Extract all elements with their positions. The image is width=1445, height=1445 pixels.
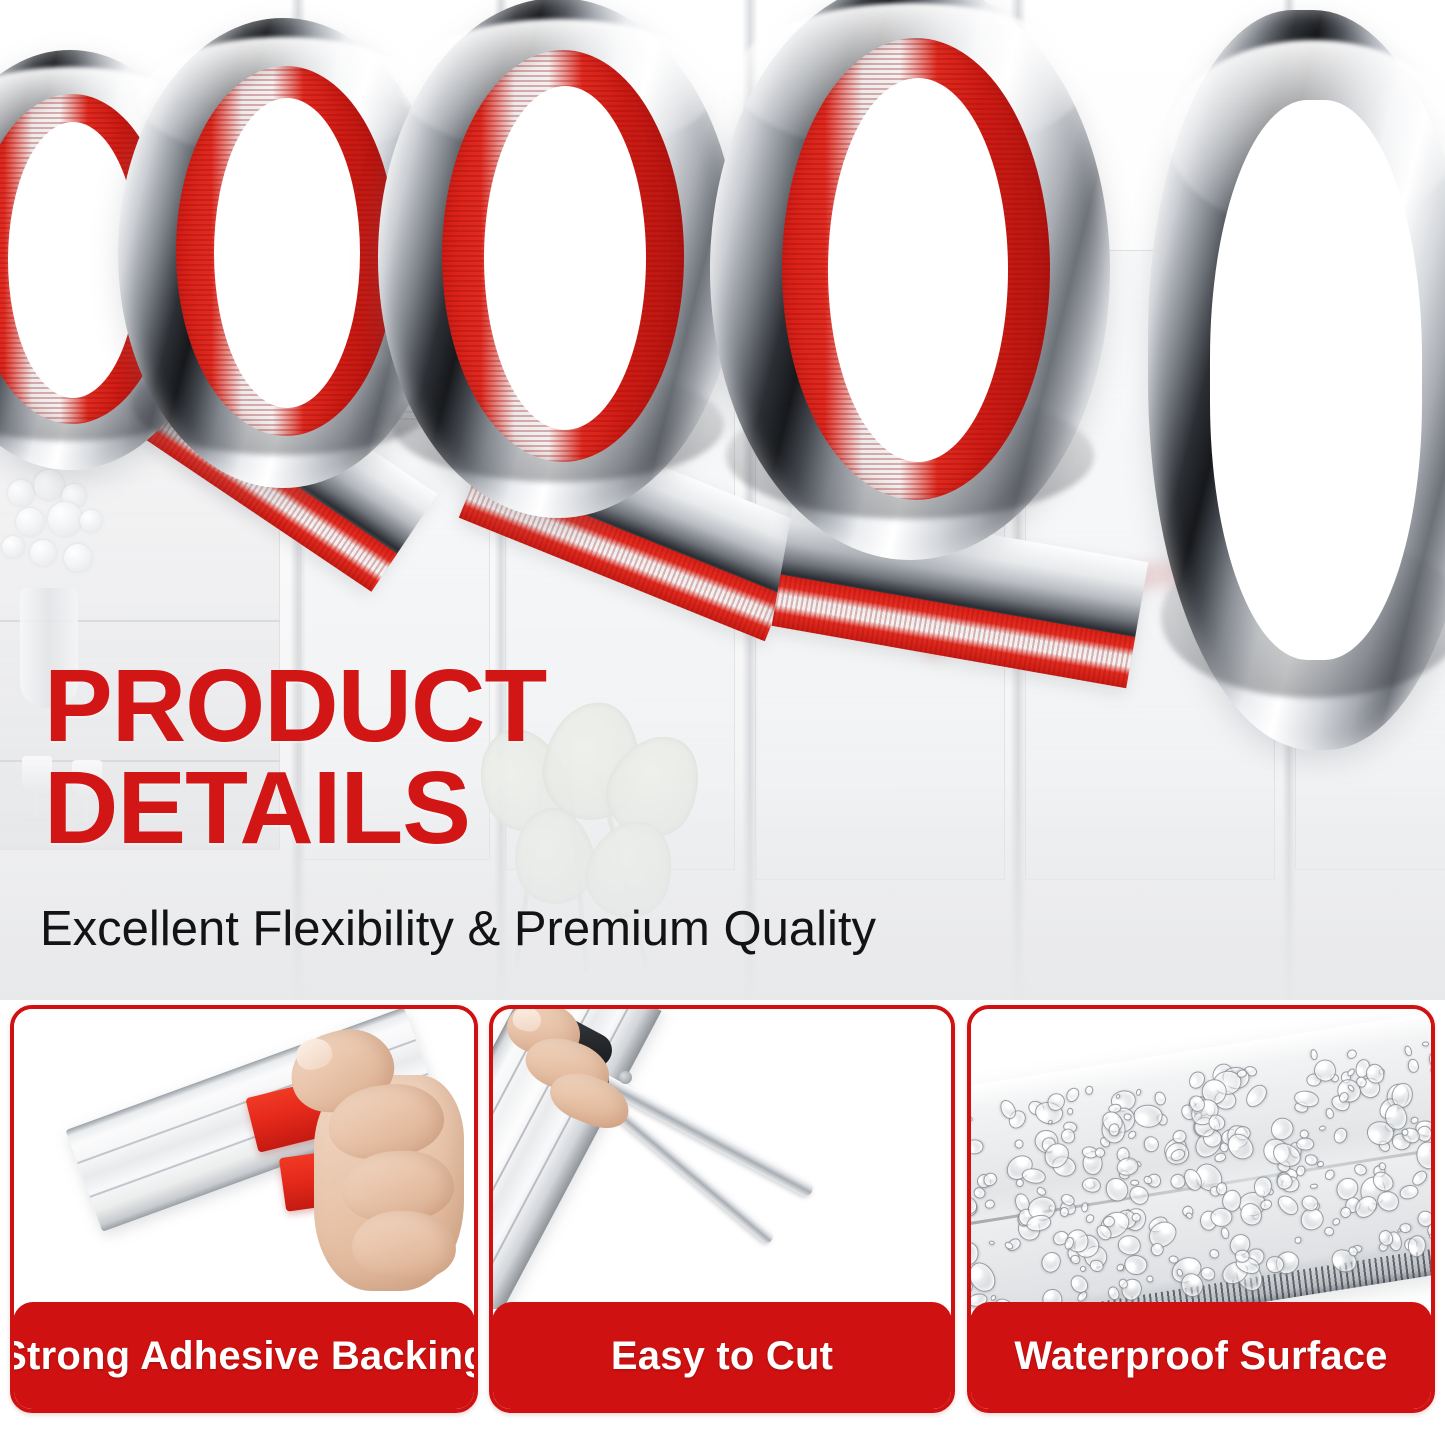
water-droplet — [1141, 1134, 1161, 1155]
hand — [256, 1023, 456, 1291]
water-droplet — [1084, 1084, 1094, 1095]
water-droplet — [1067, 1107, 1074, 1114]
water-droplet — [1346, 1048, 1359, 1060]
water-droplet — [1136, 1088, 1142, 1096]
feature-panel-easy-to-cut[interactable]: Easy to Cut — [489, 1005, 955, 1413]
water-droplet — [1126, 1182, 1152, 1208]
page-title-line-2: DETAILS — [44, 757, 1144, 859]
infographic-canvas: PRODUCT DETAILS Excellent Flexibility & … — [0, 0, 1445, 1445]
water-droplet — [1324, 1226, 1335, 1236]
feature-image-waterproof-surface — [971, 1009, 1431, 1309]
page-subtitle: Excellent Flexibility & Premium Quality — [40, 900, 876, 958]
water-droplet — [1133, 1104, 1164, 1129]
water-droplet — [1185, 1212, 1193, 1220]
water-droplet — [1060, 1207, 1069, 1217]
tape-loop — [1148, 10, 1445, 750]
feature-panel-row: Strong Adhesive Backing — [0, 1005, 1445, 1415]
water-droplet — [1215, 1182, 1227, 1196]
chrome-strip-wet — [971, 1009, 1431, 1309]
water-droplet — [1331, 1125, 1349, 1145]
water-droplet — [988, 1240, 994, 1244]
tape-loop — [710, 0, 1110, 560]
water-droplet — [1146, 1275, 1154, 1283]
water-droplet — [1213, 1152, 1227, 1165]
water-droplet — [1274, 1192, 1302, 1219]
water-droplet — [1208, 1248, 1220, 1260]
water-droplet — [1296, 1137, 1314, 1151]
water-droplet — [1063, 1086, 1081, 1105]
water-droplet — [1310, 1049, 1319, 1061]
water-droplet — [971, 1115, 974, 1123]
feature-caption-easy-to-cut: Easy to Cut — [492, 1302, 952, 1410]
water-droplet — [1117, 1234, 1142, 1256]
water-droplet — [1310, 1183, 1318, 1189]
water-droplet — [1079, 1265, 1087, 1272]
feature-panel-strong-adhesive-backing[interactable]: Strong Adhesive Backing — [10, 1005, 478, 1413]
water-droplet — [1021, 1167, 1046, 1185]
water-droplet — [1081, 1177, 1101, 1194]
feature-image-easy-to-cut — [493, 1009, 951, 1309]
water-droplet — [1037, 1249, 1064, 1277]
feature-caption-label: Strong Adhesive Backing — [10, 1334, 478, 1379]
page-title-line-1: PRODUCT — [44, 655, 1144, 757]
water-droplet — [1295, 1236, 1302, 1244]
water-droplet — [1407, 1058, 1420, 1074]
water-droplet — [1084, 1213, 1096, 1225]
water-droplet — [1220, 1226, 1231, 1240]
water-droplet — [1331, 1216, 1342, 1226]
feature-caption-label: Easy to Cut — [611, 1334, 833, 1379]
water-droplet — [971, 1139, 984, 1155]
water-droplet — [1422, 1041, 1429, 1046]
hand — [501, 1009, 651, 1123]
water-droplet — [1352, 1162, 1369, 1178]
water-droplet — [1403, 1045, 1413, 1057]
feature-caption-waterproof-surface: Waterproof Surface — [970, 1302, 1432, 1410]
water-droplet — [1127, 1130, 1138, 1141]
water-droplet — [1081, 1201, 1088, 1212]
page-title: PRODUCT DETAILS — [44, 655, 1144, 859]
water-droplet — [971, 1258, 1000, 1297]
water-droplet — [1122, 1254, 1148, 1277]
tape-loop-opening — [828, 78, 1008, 462]
tape-loop-opening — [214, 98, 360, 408]
water-droplet — [1070, 1254, 1081, 1264]
water-droplet — [1108, 1122, 1120, 1136]
tape-loop-opening — [484, 86, 646, 430]
tape-loop — [378, 0, 738, 518]
feature-caption-strong-adhesive-backing: Strong Adhesive Backing — [13, 1302, 475, 1410]
tape-loop-opening — [1210, 100, 1422, 660]
feature-panel-waterproof-surface[interactable]: Waterproof Surface — [967, 1005, 1435, 1413]
water-droplet — [1325, 1107, 1336, 1119]
water-droplet — [1210, 1207, 1232, 1227]
water-droplet — [1153, 1091, 1168, 1107]
water-droplet — [1414, 1140, 1431, 1171]
water-droplet — [1428, 1233, 1431, 1238]
water-droplet — [1322, 1167, 1336, 1182]
feature-image-strong-adhesive-backing — [14, 1009, 474, 1309]
water-droplet — [1415, 1208, 1431, 1229]
water-droplet — [983, 1198, 996, 1210]
feature-caption-label: Waterproof Surface — [1014, 1334, 1387, 1379]
water-droplet — [1318, 1125, 1327, 1132]
water-droplet — [1013, 1137, 1025, 1149]
